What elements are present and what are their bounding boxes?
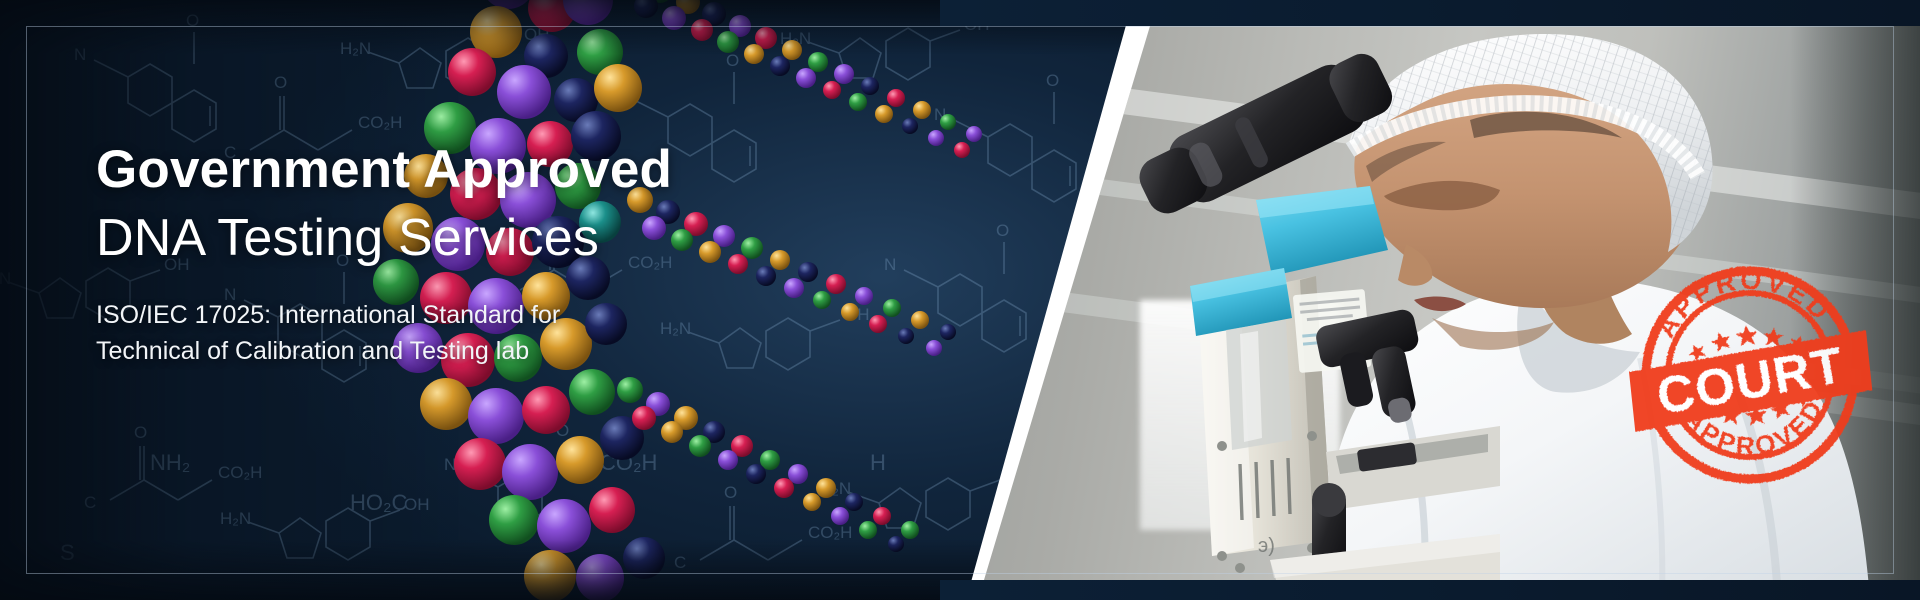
svg-text:э): э) <box>1258 535 1275 557</box>
photo-top-navy-bar <box>940 0 1920 26</box>
promotional-banner: N O H₂N OH C O <box>0 0 1920 600</box>
court-approved-stamp: APPROVED APPROVED <box>1618 243 1882 507</box>
photo-bottom-navy-bar <box>940 580 1920 600</box>
subtitle-line-2: Technical of Calibration and Testing lab <box>96 333 796 370</box>
subtitle-line-1: ISO/IEC 17025: International Standard fo… <box>96 297 796 334</box>
svg-text:APPROVED: APPROVED <box>1645 255 1839 345</box>
subtitle-block: ISO/IEC 17025: International Standard fo… <box>96 297 796 370</box>
headline-secondary: DNA Testing Services <box>96 207 796 270</box>
headline-primary: Government Approved <box>96 140 796 199</box>
stamp-top-arc-text: APPROVED <box>1645 255 1839 345</box>
banner-copy-block: Government Approved DNA Testing Services… <box>96 140 796 370</box>
